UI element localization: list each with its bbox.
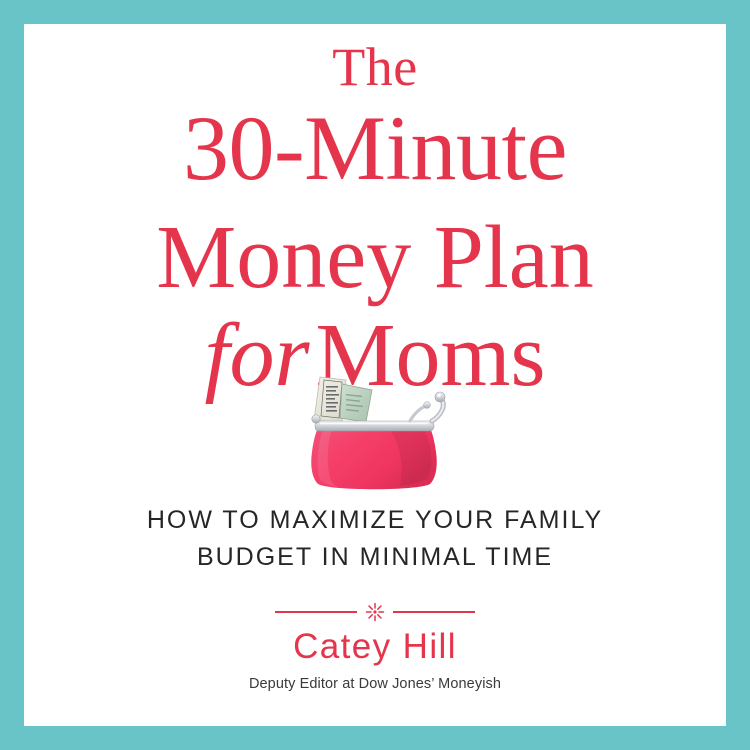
- ornament-divider: [24, 602, 726, 622]
- title-line-30-minute: 30-Minute: [24, 100, 726, 196]
- purse-illustration-wrap: [24, 372, 726, 492]
- clasp-knob-left: [312, 415, 320, 423]
- divider-rule-right: [393, 611, 475, 613]
- banknotes-icon: [314, 377, 372, 423]
- cover-inner-panel: The 30-Minute Money Plan forMoms: [24, 24, 726, 726]
- book-cover: The 30-Minute Money Plan forMoms: [0, 0, 750, 750]
- divider-rule-left: [275, 611, 357, 613]
- title-block: The 30-Minute Money Plan forMoms: [24, 38, 726, 404]
- subtitle-block: HOW TO MAXIMIZE YOUR FAMILY BUDGET IN MI…: [24, 502, 726, 576]
- author-credential: Deputy Editor at Dow Jones’ Moneyish: [24, 674, 726, 694]
- title-line-the: The: [24, 38, 726, 96]
- clasp-knob-right: [435, 392, 445, 402]
- starburst-ornament-icon: [364, 601, 386, 623]
- title-line-money-plan: Money Plan: [24, 210, 726, 306]
- subtitle-line-2: BUDGET IN MINIMAL TIME: [24, 539, 726, 576]
- author-name: Catey Hill: [24, 626, 726, 668]
- subtitle-line-1: HOW TO MAXIMIZE YOUR FAMILY: [24, 502, 726, 539]
- pink-coin-purse-icon: [290, 374, 460, 492]
